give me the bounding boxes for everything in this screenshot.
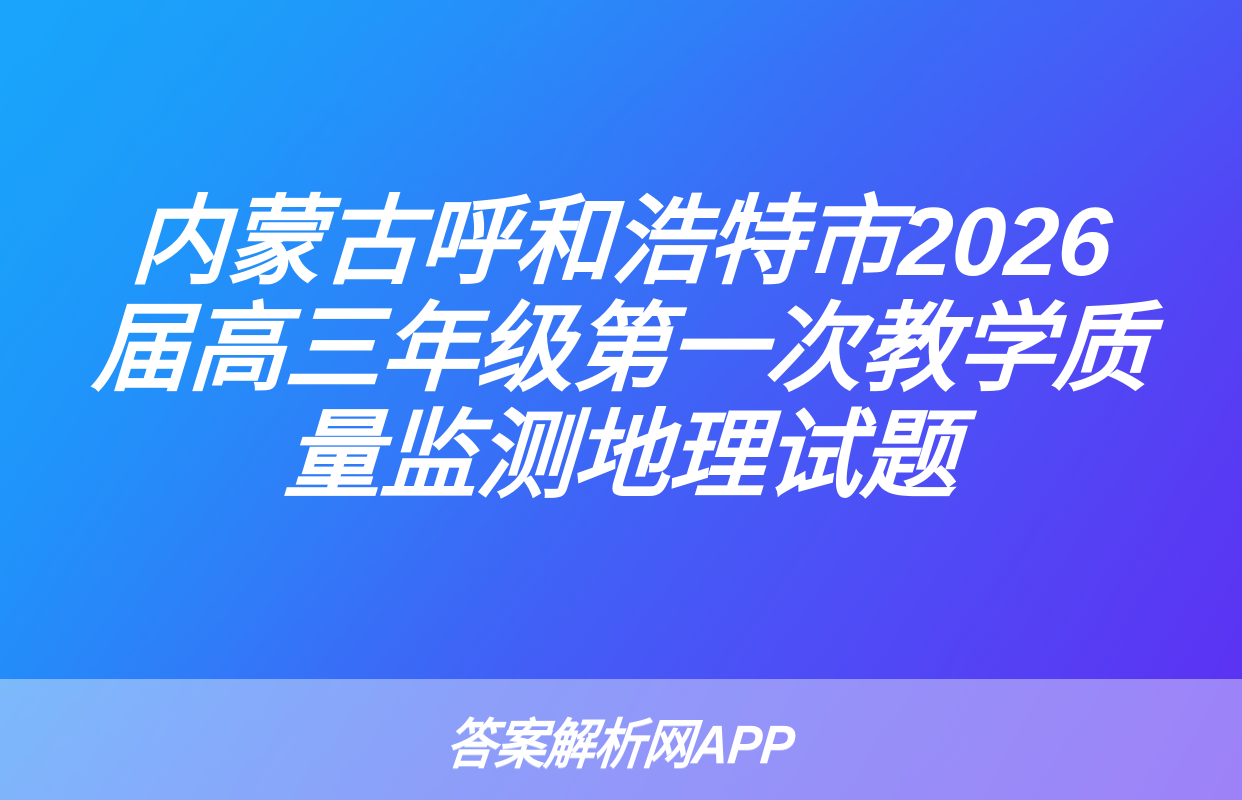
footer-watermark-band: 答案解析网APP: [0, 679, 1242, 800]
title-line-3: 量监测地理试题: [0, 402, 1242, 509]
app-watermark-label: 答案解析网APP: [443, 700, 798, 779]
title-line-2: 届高三年级第一次教学质: [0, 295, 1242, 402]
page-title: 内蒙古呼和浩特市2026 届高三年级第一次教学质 量监测地理试题: [0, 188, 1242, 509]
title-line-1: 内蒙古呼和浩特市2026: [0, 188, 1242, 295]
exam-title-card: 内蒙古呼和浩特市2026 届高三年级第一次教学质 量监测地理试题 答案解析网AP…: [0, 0, 1242, 800]
